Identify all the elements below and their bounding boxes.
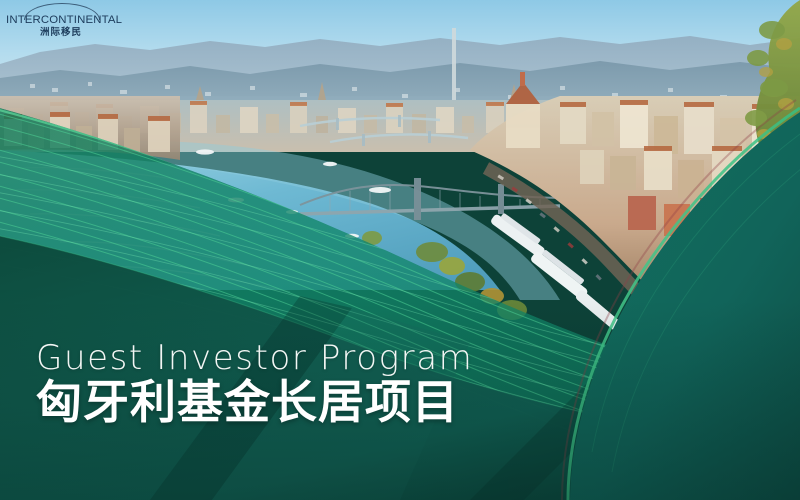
logo-chinese-name: 洲际移民: [6, 28, 116, 38]
logo-wordmark: INTERCONTINENTAL: [6, 15, 116, 26]
title-english: Guest Investor Program: [36, 340, 473, 377]
hero-banner: INTERCONTINENTAL 洲际移民 Guest Investor Pro…: [0, 0, 800, 500]
title-chinese: 匈牙利基金长居项目: [36, 378, 473, 428]
intercontinental-logo[interactable]: INTERCONTINENTAL 洲际移民: [6, 3, 116, 39]
headline-block: Guest Investor Program 匈牙利基金长居项目: [36, 340, 473, 428]
